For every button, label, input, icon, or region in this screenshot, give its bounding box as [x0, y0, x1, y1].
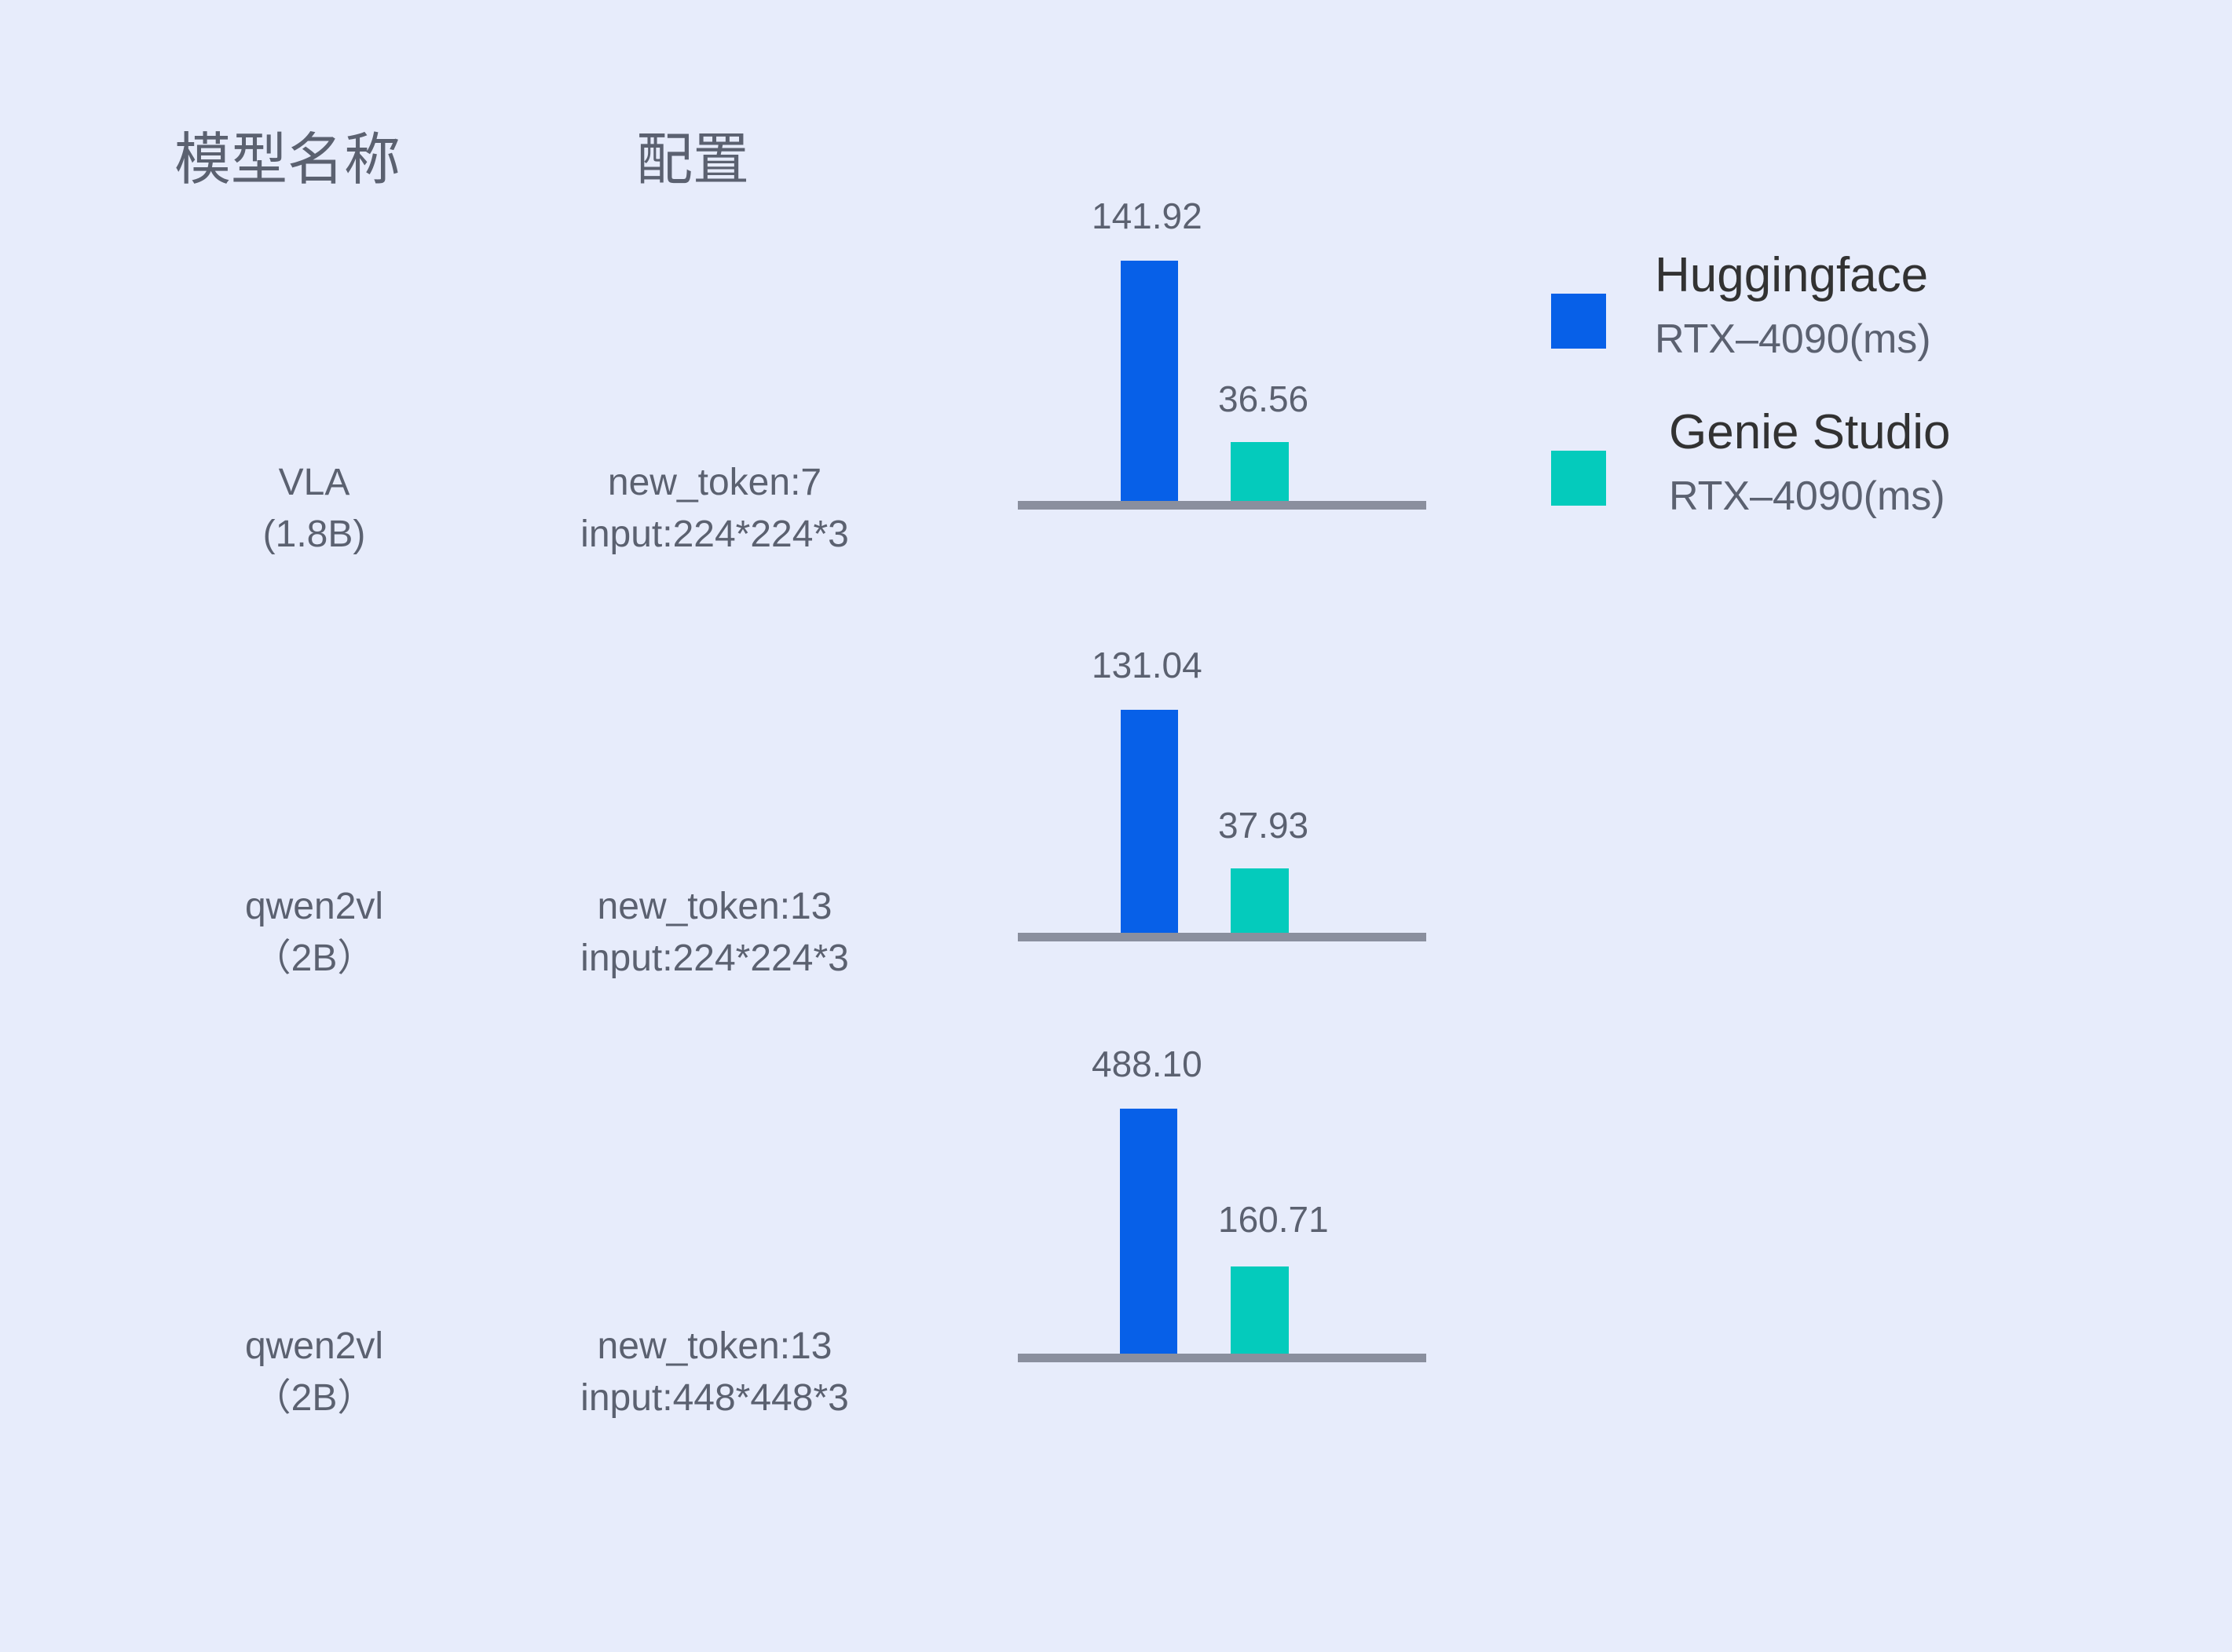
legend-subtitle: RTX–4090(ms) — [1655, 319, 1931, 360]
config-line-1: new_token:13 — [440, 1321, 990, 1372]
legend-swatch-icon — [1551, 294, 1606, 349]
baseline-axis — [1018, 501, 1426, 510]
legend-item-huggingface: Huggingface RTX–4090(ms) — [1551, 251, 2179, 408]
huggingface-value-label: 131.04 — [1092, 647, 1202, 683]
row-bar-plot: 131.04 37.93 — [1018, 683, 1426, 1029]
huggingface-bar — [1121, 710, 1178, 933]
row-bar-plot: 141.92 36.56 — [1018, 251, 1426, 597]
genie-value-label: 37.93 — [1218, 807, 1308, 843]
huggingface-value-label: 488.10 — [1092, 1046, 1202, 1082]
baseline-axis — [1018, 1354, 1426, 1362]
genie-value-label: 36.56 — [1218, 381, 1308, 417]
legend-subtitle: RTX–4090(ms) — [1669, 476, 1945, 517]
legend-item-genie-studio: Genie Studio RTX–4090(ms) — [1551, 408, 2179, 565]
config-line-1: new_token:13 — [440, 881, 990, 933]
config-line-1: new_token:7 — [440, 457, 990, 509]
genie-bar — [1231, 868, 1289, 933]
config-line-2: input:224*224*3 — [440, 509, 990, 561]
genie-value-label: 160.71 — [1218, 1201, 1329, 1237]
row-bar-plot: 488.10 160.71 — [1018, 1076, 1426, 1468]
table-row: qwen2vl （2B） new_token:13 input:224*224*… — [0, 785, 2232, 1052]
baseline-axis — [1018, 933, 1426, 941]
table-row: qwen2vl （2B） new_token:13 input:448*448*… — [0, 1178, 2232, 1492]
legend-swatch-icon — [1551, 451, 1606, 506]
genie-bar — [1231, 442, 1289, 501]
genie-bar — [1231, 1266, 1289, 1354]
row-config: new_token:13 input:224*224*3 — [440, 881, 990, 985]
config-line-2: input:448*448*3 — [440, 1372, 990, 1424]
huggingface-value-label: 141.92 — [1092, 198, 1202, 234]
row-config: new_token:7 input:224*224*3 — [440, 457, 990, 561]
chart-legend: Huggingface RTX–4090(ms) Genie Studio RT… — [1551, 251, 2179, 565]
legend-title: Genie Studio — [1669, 408, 1950, 457]
huggingface-bar — [1121, 261, 1178, 501]
config-line-2: input:224*224*3 — [440, 933, 990, 985]
huggingface-bar — [1120, 1109, 1177, 1360]
legend-title: Huggingface — [1655, 251, 1928, 300]
row-config: new_token:13 input:448*448*3 — [440, 1321, 990, 1424]
